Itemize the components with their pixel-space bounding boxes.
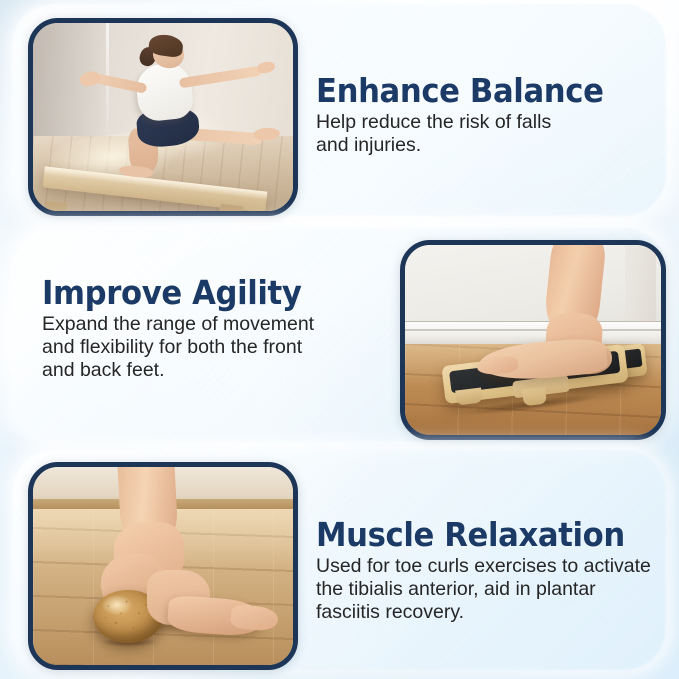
feature-title-1: Enhance Balance bbox=[316, 74, 632, 108]
feature-image-card-1 bbox=[28, 18, 298, 216]
feature-text-2: Improve Agility Expand the range of move… bbox=[42, 276, 372, 382]
infographic-root: Enhance Balance Help reduce the risk of … bbox=[0, 0, 679, 679]
feature-description-3: Used for toe curls exercises to activate… bbox=[316, 555, 666, 624]
feature-text-3: Muscle Relaxation Used for toe curls exe… bbox=[316, 518, 666, 624]
balance-beam-photo bbox=[33, 23, 293, 211]
cork-ball-photo bbox=[33, 467, 293, 665]
feature-title-3: Muscle Relaxation bbox=[316, 518, 642, 552]
feature-image-card-2 bbox=[400, 240, 666, 440]
feature-description-2: Expand the range of movement and flexibi… bbox=[42, 313, 372, 382]
feature-description-1: Help reduce the risk of falls and injuri… bbox=[316, 111, 656, 157]
slant-board-photo bbox=[405, 245, 661, 435]
feature-title-2: Improve Agility bbox=[42, 276, 349, 310]
feature-text-1: Enhance Balance Help reduce the risk of … bbox=[316, 74, 656, 157]
feature-image-card-3 bbox=[28, 462, 298, 670]
